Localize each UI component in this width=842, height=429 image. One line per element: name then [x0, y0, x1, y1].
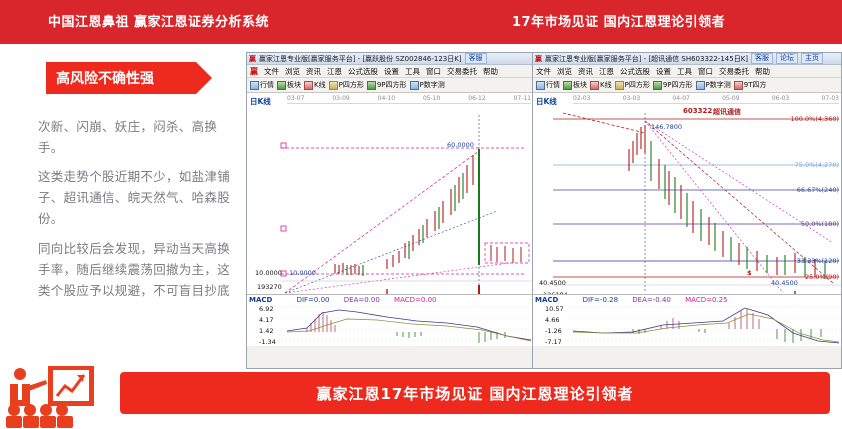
window-left-title: 赢家江恩专业版[赢家服务平台] - [赢跃股份 SZ002846-123日K]: [259, 54, 462, 64]
gann-level-25: 25.0%(90): [805, 273, 839, 281]
nine-p-square-icon: [367, 81, 376, 90]
chart-right[interactable]: 日K线 02-03 03-03 04-07 05-09 06-03 07-03: [533, 93, 841, 346]
risk-arrow-banner-label: 高风险不确性强: [46, 68, 154, 88]
toolbar-sector-button[interactable]: 板块: [277, 80, 301, 90]
quotes-icon: [250, 81, 259, 90]
toolbar-kline-button[interactable]: K线: [304, 80, 326, 90]
toolbar-quotes-label: 行情: [260, 80, 274, 90]
toolbar-kline-label: K线: [314, 80, 326, 90]
top-banner: 中国江恩鼻祖 赢家江恩证券分析系统 17年市场见证 国内江恩理论引领者: [0, 0, 842, 44]
menu-gann[interactable]: 江恩: [327, 66, 342, 77]
app-logo-icon: 赢: [249, 54, 256, 64]
top-banner-left-text: 中国江恩鼻祖 赢家江恩证券分析系统: [48, 11, 269, 30]
customer-service-button[interactable]: 客服: [465, 53, 487, 64]
toolbar-pnumber-label: P数字测: [420, 80, 445, 90]
chart-left-price-low: 10.0000: [289, 269, 316, 277]
gann-level-3333: 33.33%(120): [797, 257, 839, 265]
gann-level-6667: 66.67%(240): [797, 186, 839, 194]
app-logo-icon: 赢: [535, 54, 542, 64]
chart-left-vol-1: 193270: [257, 283, 282, 291]
toolbar-quotes-button[interactable]: 行情: [536, 80, 560, 90]
left-text-column: 高风险不确性强 次新、闪崩、妖庄，闷杀、高换手。 这类走势个股近期不少，如盐津铺…: [0, 44, 244, 369]
app-window-left: 赢 赢家江恩专业版[赢家服务平台] - [赢跃股份 SZ002846-123日K…: [246, 52, 534, 369]
window-right-titlebar[interactable]: 赢 赢家江恩专业版[赢家服务平台] - [超讯通信 SH603322-145日K…: [533, 53, 841, 65]
gann-level-100: 100.0%(4,360): [791, 115, 839, 123]
menu-gann[interactable]: 江恩: [599, 66, 614, 77]
forum-button[interactable]: 论坛: [776, 53, 798, 64]
bottom-banner-label: 赢家江恩17年市场见证 国内江恩理论引领者: [316, 383, 633, 404]
toolbar-9psquare-button[interactable]: 9P四方形: [653, 80, 693, 90]
menu-tools[interactable]: 工具: [677, 66, 692, 77]
app-window-right: 赢 赢家江恩专业版[赢家服务平台] - [超讯通信 SH603322-145日K…: [532, 52, 842, 369]
window-right-toolbar[interactable]: 行情 板块 K线 P四方形 9P四方形 P数字测 9T四方: [533, 78, 841, 93]
toolbar-sector-label: 板块: [287, 80, 301, 90]
chart-right-price-low: 40.4500: [771, 279, 798, 287]
toolbar-psquare-label: P四方形: [625, 80, 650, 90]
chart-right-stock-code: 603322: [683, 107, 712, 115]
p-square-icon: [615, 81, 624, 90]
toolbar-psquare-button[interactable]: P四方形: [329, 80, 364, 90]
menu-news[interactable]: 资讯: [306, 66, 321, 77]
toolbar-pnumber-button[interactable]: P数字测: [696, 80, 731, 90]
chart-left-price-low-axis: 10.0000: [255, 269, 282, 277]
dollar-marker: $: [747, 269, 752, 277]
toolbar-quotes-label: 行情: [546, 80, 560, 90]
menu-trade[interactable]: 交易委托: [719, 66, 749, 77]
toolbar-kline-button[interactable]: K线: [590, 80, 612, 90]
chart-right-axis-1: 40.4500: [539, 279, 566, 287]
top-banner-right-text: 17年市场见证 国内江恩理论引领者: [512, 11, 725, 30]
toolbar-pnumber-label: P数字测: [706, 80, 731, 90]
window-left-toolbar[interactable]: 行情 板块 K线 P四方形 9P四方形 P数字测: [247, 78, 533, 93]
p-number-icon: [696, 81, 705, 90]
quotes-icon: [536, 81, 545, 90]
toolbar-sector-button[interactable]: 板块: [563, 80, 587, 90]
toolbar-kline-label: K线: [600, 80, 612, 90]
toolbar-sector-label: 板块: [573, 80, 587, 90]
menu-window[interactable]: 窗口: [698, 66, 713, 77]
paragraph-1: 次新、闪崩、妖庄，闷杀、高换手。: [38, 116, 234, 158]
paragraph-3: 同向比较后会发现，异动当天高换手率，随后继续震荡回撤为主，这类个股应予以规避，不…: [38, 238, 234, 301]
menu-news[interactable]: 资讯: [578, 66, 593, 77]
toolbar-psquare-button[interactable]: P四方形: [615, 80, 650, 90]
menu-file[interactable]: 文件: [264, 66, 279, 77]
menu-help[interactable]: 帮助: [755, 66, 770, 77]
chart-left-macd-pane: MACD DIF=0.00 DEA=0.00 MACD=0.00 6.92 4.…: [247, 294, 533, 346]
menu-tools[interactable]: 工具: [405, 66, 420, 77]
toolbar-9tsquare-label: 9T四方: [744, 80, 767, 90]
chart-right-macd-pane: MACD DIF=-0.28 DEA=-0.40 MACD=0.25 10.57…: [533, 294, 841, 346]
bottom-banner: 赢家江恩17年市场见证 国内江恩理论引领者: [120, 372, 830, 414]
menu-browse[interactable]: 浏览: [557, 66, 572, 77]
kline-icon: [590, 81, 599, 90]
nine-t-square-icon: [734, 81, 743, 90]
menu-logo-icon: 赢: [250, 66, 258, 77]
window-left-menubar[interactable]: 赢 文件 浏览 资讯 江恩 公式选股 设置 工具 窗口 交易委托 帮助: [247, 65, 533, 78]
chart-left-price-high: 60.0000: [447, 141, 474, 149]
paragraph-2: 这类走势个股近期不少，如盐津铺子、超讯通信、皖天然气、哈森股份。: [38, 166, 234, 229]
chart-right-stock-name: 超讯通信: [713, 107, 741, 117]
toolbar-pnumber-button[interactable]: P数字测: [410, 80, 445, 90]
toolbar-psquare-label: P四方形: [339, 80, 364, 90]
menu-formula[interactable]: 公式选股: [348, 66, 378, 77]
chart-right-price-high: 146.7800: [651, 123, 682, 131]
menu-window[interactable]: 窗口: [426, 66, 441, 77]
gann-level-50: 50.0%(180): [801, 220, 839, 228]
homepage-button[interactable]: 主页: [801, 53, 823, 64]
menu-help[interactable]: 帮助: [483, 66, 498, 77]
sector-icon: [277, 81, 286, 90]
toolbar-9psquare-button[interactable]: 9P四方形: [367, 80, 407, 90]
risk-arrow-banner: 高风险不确性强: [46, 62, 196, 94]
window-right-menubar[interactable]: 文件 浏览 资讯 江恩 公式选股 设置 工具 窗口 交易委托 帮助: [533, 65, 841, 78]
menu-browse[interactable]: 浏览: [285, 66, 300, 77]
sector-icon: [563, 81, 572, 90]
toolbar-9psquare-label: 9P四方形: [377, 80, 407, 90]
customer-service-button[interactable]: 客服: [751, 53, 773, 64]
p-number-icon: [410, 81, 419, 90]
nine-p-square-icon: [653, 81, 662, 90]
menu-settings[interactable]: 设置: [656, 66, 671, 77]
menu-formula[interactable]: 公式选股: [620, 66, 650, 77]
menu-file[interactable]: 文件: [536, 66, 551, 77]
menu-settings[interactable]: 设置: [384, 66, 399, 77]
toolbar-9tsquare-button[interactable]: 9T四方: [734, 80, 767, 90]
p-square-icon: [329, 81, 338, 90]
toolbar-9psquare-label: 9P四方形: [663, 80, 693, 90]
kline-icon: [304, 81, 313, 90]
chart-left[interactable]: 日K线 03-07 03-09 04-10 05-10 06-12 07-11: [247, 93, 533, 346]
toolbar-quotes-button[interactable]: 行情: [250, 80, 274, 90]
gann-level-75: 75.0%(4,270): [795, 161, 839, 169]
window-right-title: 赢家江恩专业版[赢家服务平台] - [超讯通信 SH603322-145日K]: [545, 54, 748, 64]
window-left-titlebar[interactable]: 赢 赢家江恩专业版[赢家服务平台] - [赢跃股份 SZ002846-123日K…: [247, 53, 533, 65]
menu-trade[interactable]: 交易委托: [447, 66, 477, 77]
